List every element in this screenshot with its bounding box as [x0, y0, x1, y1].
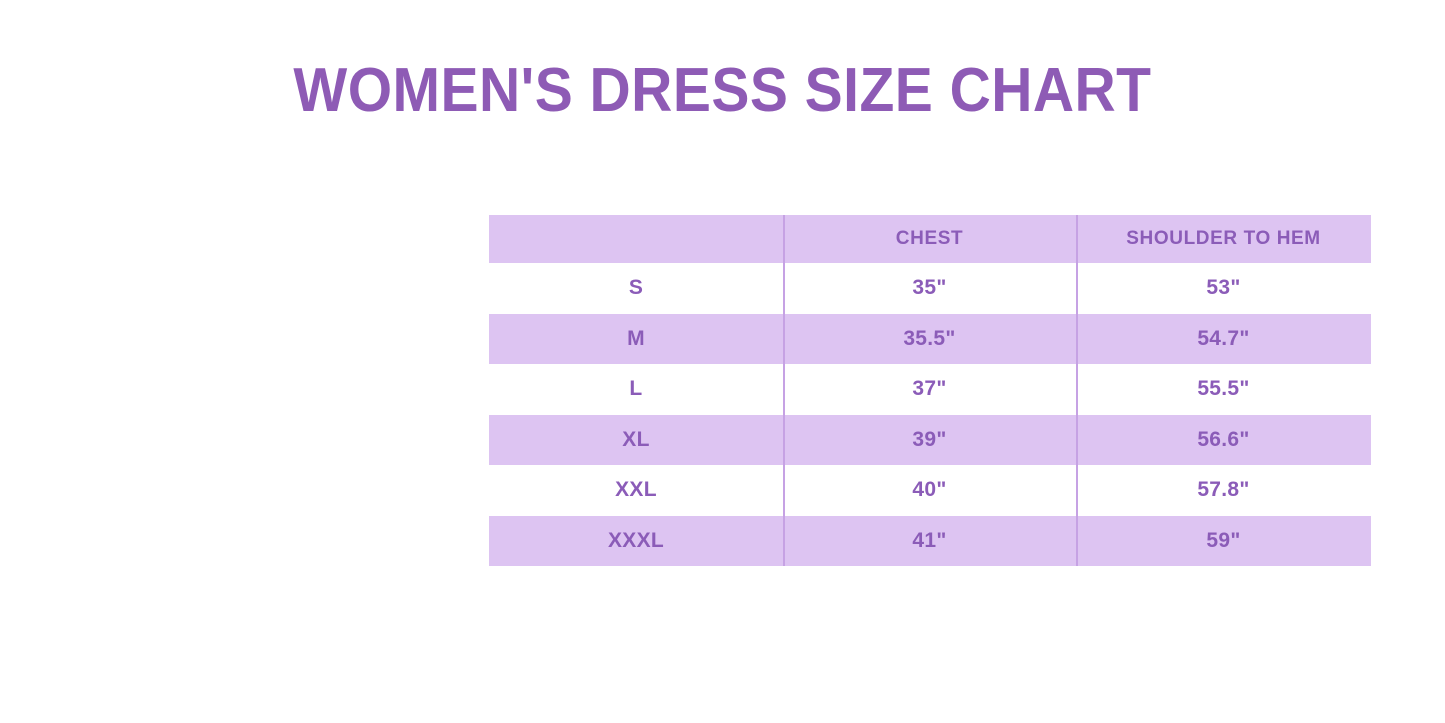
- cell-size: S: [489, 263, 783, 314]
- table-header: CHEST SHOULDER TO HEM: [489, 215, 1371, 263]
- table-row: XL39"56.6": [489, 415, 1371, 466]
- column-header-chest: CHEST: [783, 215, 1076, 263]
- table-row: M35.5"54.7": [489, 314, 1371, 365]
- column-header-size: [489, 215, 783, 263]
- cell-size: L: [489, 364, 783, 415]
- table-row: XXXL41"59": [489, 516, 1371, 567]
- cell-size: M: [489, 314, 783, 365]
- table-row: S35"53": [489, 263, 1371, 314]
- size-chart-table: CHEST SHOULDER TO HEM S35"53"M35.5"54.7"…: [489, 215, 1371, 566]
- cell-chest: 40": [783, 465, 1076, 516]
- cell-chest: 35.5": [783, 314, 1076, 365]
- cell-shoulder-to-hem: 57.8": [1076, 465, 1371, 516]
- cell-chest: 41": [783, 516, 1076, 567]
- cell-size: XXXL: [489, 516, 783, 567]
- cell-shoulder-to-hem: 55.5": [1076, 364, 1371, 415]
- page-title: WOMEN'S DRESS SIZE CHART: [58, 55, 1387, 127]
- cell-shoulder-to-hem: 59": [1076, 516, 1371, 567]
- cell-shoulder-to-hem: 54.7": [1076, 314, 1371, 365]
- table-body: S35"53"M35.5"54.7"L37"55.5"XL39"56.6"XXL…: [489, 263, 1371, 566]
- cell-chest: 37": [783, 364, 1076, 415]
- cell-size: XXL: [489, 465, 783, 516]
- cell-shoulder-to-hem: 53": [1076, 263, 1371, 314]
- column-header-shoulder-to-hem: SHOULDER TO HEM: [1076, 215, 1371, 263]
- table-row: L37"55.5": [489, 364, 1371, 415]
- size-chart-page: WOMEN'S DRESS SIZE CHART CHEST SHOULDER …: [0, 0, 1445, 723]
- table-header-row: CHEST SHOULDER TO HEM: [489, 215, 1371, 263]
- cell-size: XL: [489, 415, 783, 466]
- cell-chest: 39": [783, 415, 1076, 466]
- cell-chest: 35": [783, 263, 1076, 314]
- table-row: XXL40"57.8": [489, 465, 1371, 516]
- cell-shoulder-to-hem: 56.6": [1076, 415, 1371, 466]
